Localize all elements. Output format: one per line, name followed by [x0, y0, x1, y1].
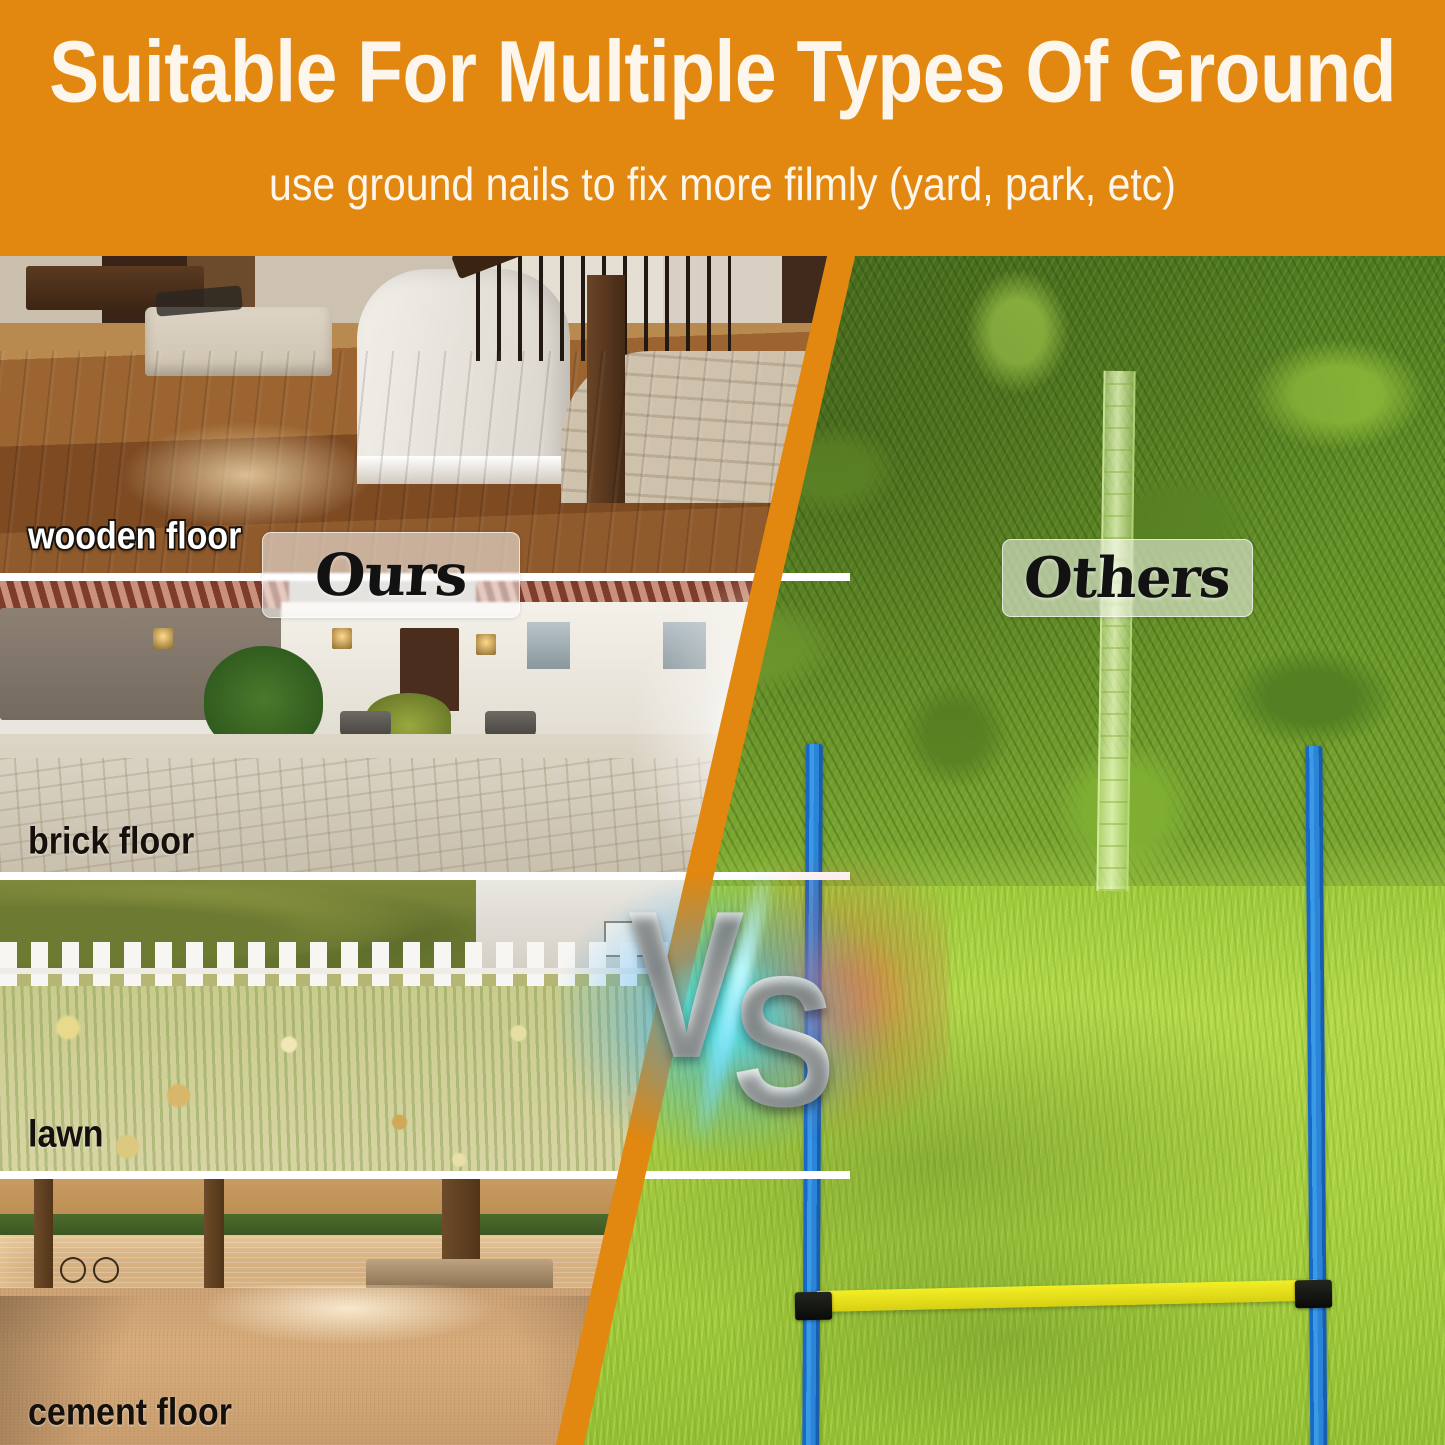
wall-lamp-2 [332, 628, 352, 649]
crossbar-clip-left [795, 1292, 832, 1321]
crossbar-clip-right [1295, 1280, 1332, 1309]
floor-light-reflection [119, 421, 374, 529]
parked-bicycle [60, 1248, 120, 1283]
header-banner: Suitable For Multiple Types Of Ground us… [0, 0, 1445, 256]
ground-label-wooden-floor: wooden floor [28, 517, 241, 555]
vs-logo: V S [614, 876, 864, 1136]
sun-glare [204, 1285, 493, 1344]
page-title: Suitable For Multiple Types Of Ground [0, 26, 1445, 117]
bicycle-wheel-rear [60, 1257, 86, 1283]
comparison-body: wooden floor [0, 256, 1445, 1445]
badge-others: Others [1002, 539, 1253, 617]
wall-lamp-3 [476, 634, 496, 655]
bridge-pillar-2 [204, 1179, 224, 1288]
ground-label-cement-floor: cement floor [28, 1393, 232, 1431]
badge-others-label: Others [1023, 550, 1233, 606]
infographic-root: Suitable For Multiple Types Of Ground us… [0, 0, 1445, 1445]
bicycle-wheel-front [93, 1257, 119, 1283]
house-window-1 [527, 622, 570, 669]
badge-ours: Ours [262, 532, 520, 618]
stone-block-1 [366, 1259, 553, 1288]
vs-letter-s: S [732, 949, 835, 1135]
wall-lamp-1 [153, 628, 173, 649]
lawn-shadow-band-2 [715, 1231, 1285, 1445]
ground-label-lawn: lawn [28, 1115, 104, 1153]
page-subtitle: use ground nails to fix more filmly (yar… [0, 160, 1445, 209]
garage-roof-tiles [0, 581, 289, 611]
badge-ours-label: Ours [313, 546, 469, 604]
ground-label-brick-floor: brick floor [28, 822, 194, 860]
bridge-pillar-1 [34, 1179, 53, 1288]
ground-photo-wooden-floor: wooden floor [0, 256, 850, 573]
